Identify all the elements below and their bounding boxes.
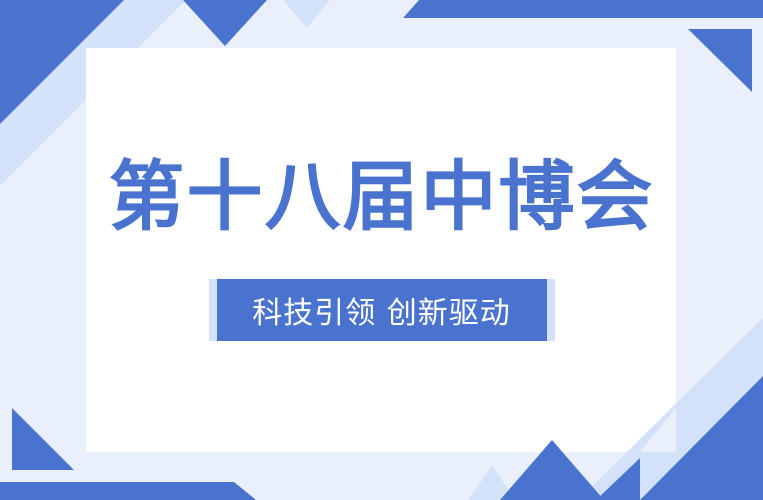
- poster-content: 第十八届中博会 科技引领 创新驱动: [0, 0, 763, 500]
- page-title: 第十八届中博会: [109, 159, 655, 235]
- subtitle-text: 科技引领 创新驱动: [252, 288, 511, 332]
- poster-canvas: 第十八届中博会 科技引领 创新驱动: [0, 0, 763, 500]
- subtitle-banner: 科技引领 创新驱动: [217, 279, 547, 341]
